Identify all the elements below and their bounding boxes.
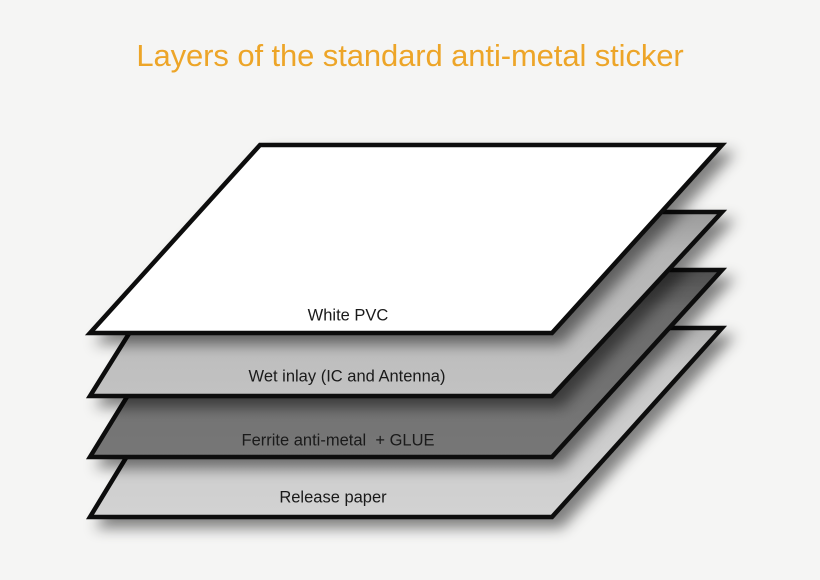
layer-label-release-paper: Release paper: [279, 489, 386, 508]
layer-stack-illustration: [0, 0, 820, 580]
diagram-canvas: Layers of the standard anti-metal sticke…: [0, 0, 820, 580]
layer-label-ferrite-anti-metal: Ferrite anti-metal + GLUE: [241, 432, 434, 451]
layer-label-white-pvc: White PVC: [308, 307, 389, 326]
layer-label-wet-inlay: Wet inlay (IC and Antenna): [249, 368, 446, 387]
